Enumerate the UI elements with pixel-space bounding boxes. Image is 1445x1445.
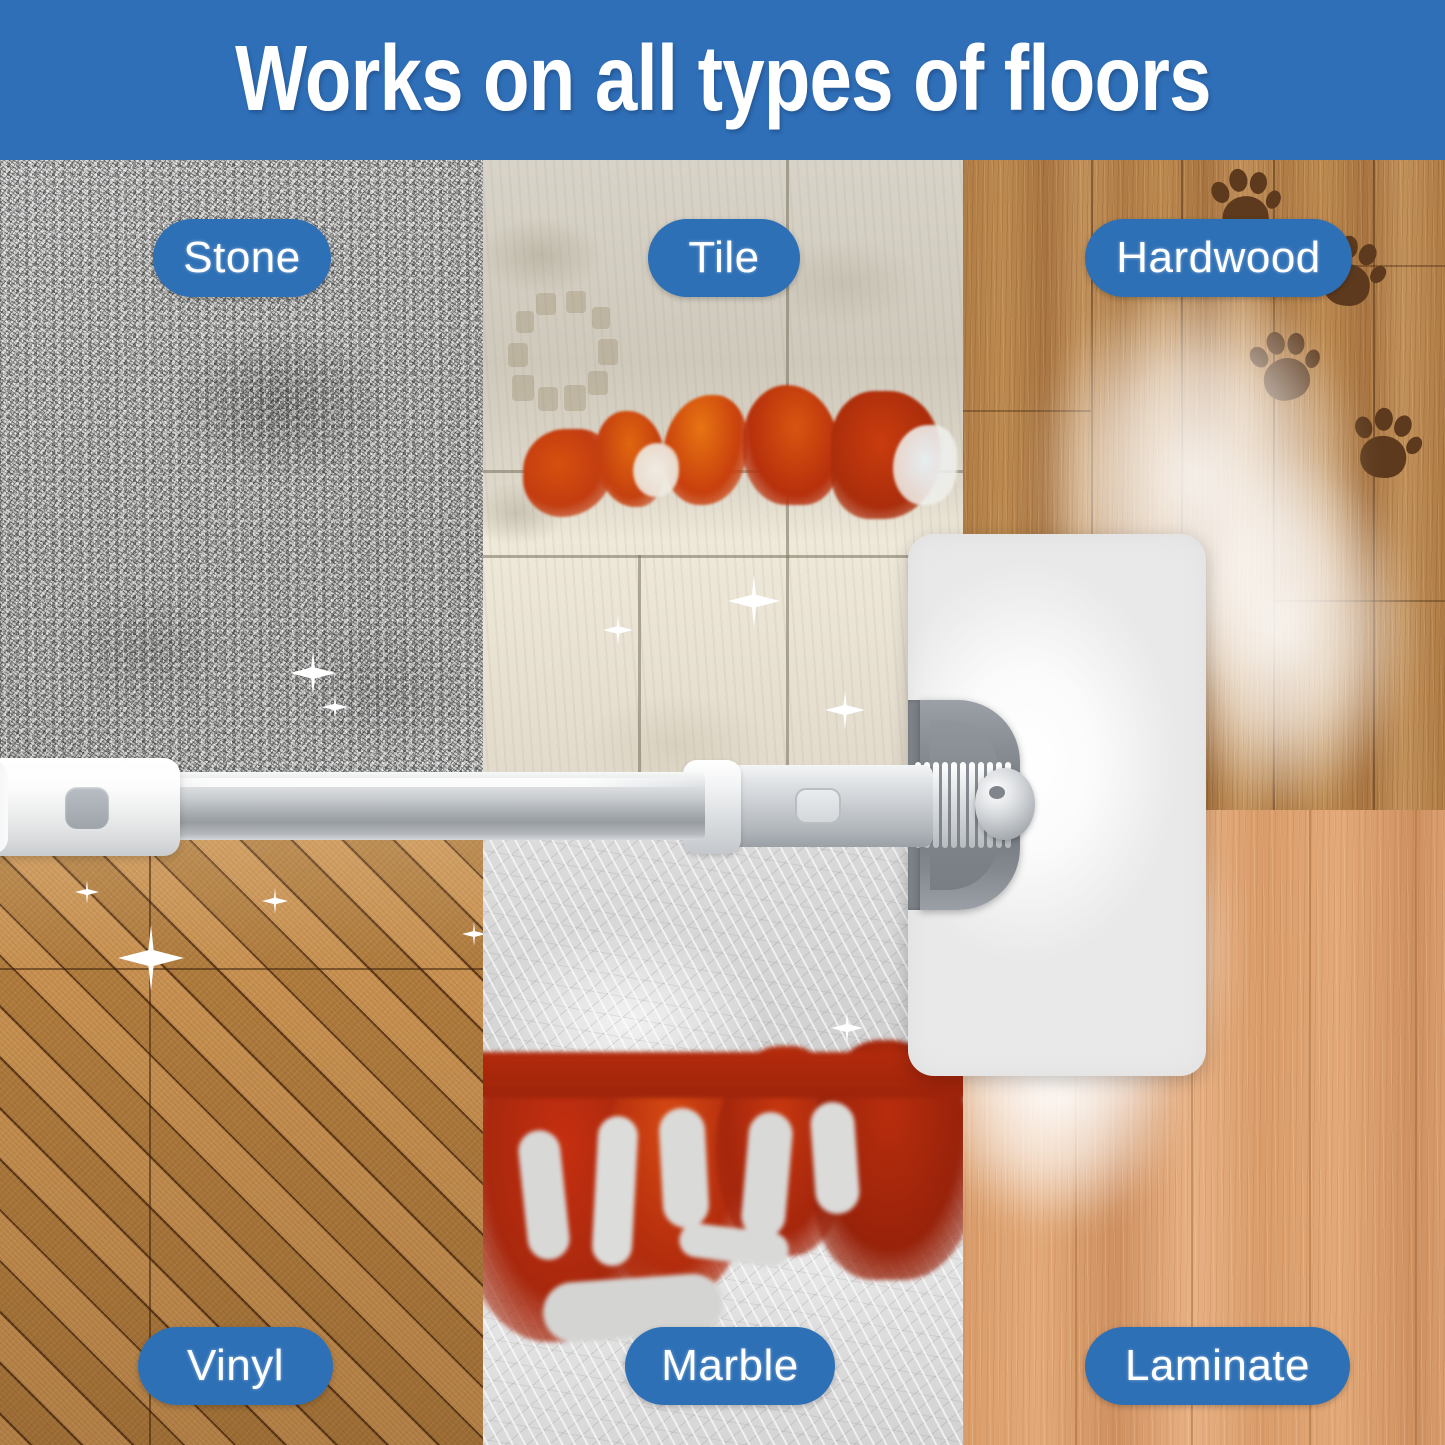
floor-label-laminate[interactable]: Laminate (1085, 1327, 1350, 1405)
plank-seam (1273, 600, 1445, 602)
tile-grout-line (483, 555, 963, 558)
floor-label-marble[interactable]: Marble (625, 1327, 835, 1405)
plank-seam (1075, 810, 1077, 1445)
tile-grout-line (638, 555, 641, 840)
paw-print (1348, 406, 1423, 487)
plank-seam (1415, 810, 1417, 1445)
page-title: Works on all types of floors (235, 32, 1211, 129)
plank-seam (963, 410, 1091, 412)
floor-label-vinyl[interactable]: Vinyl (138, 1327, 333, 1405)
floor-label-hardwood[interactable]: Hardwood (1085, 219, 1352, 297)
floor-label-tile[interactable]: Tile (648, 219, 800, 297)
parquet-tile-line (0, 968, 483, 970)
sauce-stain-tile (513, 385, 953, 545)
floor-label-stone[interactable]: Stone (153, 219, 331, 297)
product-infographic: Works on all types of floors Stone Tile … (0, 0, 1445, 1445)
header-banner: Works on all types of floors (0, 0, 1445, 160)
